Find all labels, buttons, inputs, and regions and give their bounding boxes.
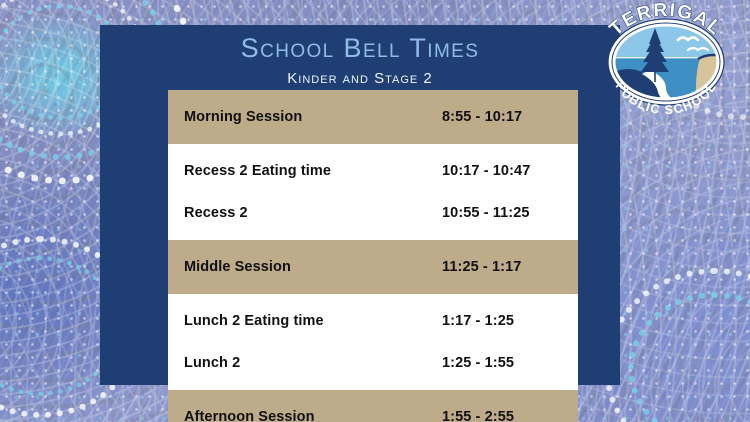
bell-times-panel: School Bell Times Kinder and Stage 2 Mor… (100, 25, 620, 385)
page-subtitle: Kinder and Stage 2 (100, 71, 620, 86)
group-bottom-padding (168, 285, 578, 294)
group-top-padding (168, 294, 578, 303)
schedule-group: Recess 2 Eating time10:17 - 10:47Recess … (168, 144, 578, 240)
schedule-group: Middle Session11:25 - 1:17 (168, 240, 578, 294)
session-label: Morning Session (184, 109, 442, 125)
bell-times-table: Morning Session8:55 - 10:17Recess 2 Eati… (168, 90, 578, 422)
session-label: Afternoon Session (184, 409, 442, 422)
schedule-group: Morning Session8:55 - 10:17 (168, 90, 578, 144)
group-top-padding (168, 144, 578, 153)
table-row: Lunch 21:25 - 1:55 (168, 345, 578, 381)
session-time: 11:25 - 1:17 (442, 259, 564, 275)
school-logo: TERRIGAL PUBLIC SCHOOL (592, 2, 740, 122)
table-row: Recess 2 Eating time10:17 - 10:47 (168, 153, 578, 189)
session-label: Recess 2 (184, 205, 442, 221)
table-row: Recess 210:55 - 11:25 (168, 195, 578, 231)
session-time: 1:25 - 1:55 (442, 355, 564, 371)
session-time: 1:17 - 1:25 (442, 313, 564, 329)
table-row: Morning Session8:55 - 10:17 (168, 99, 578, 135)
slide-canvas: School Bell Times Kinder and Stage 2 Mor… (0, 0, 750, 422)
session-time: 8:55 - 10:17 (442, 109, 564, 125)
group-bottom-padding (168, 381, 578, 390)
schedule-group: Lunch 2 Eating time1:17 - 1:25Lunch 21:2… (168, 294, 578, 390)
table-row: Middle Session11:25 - 1:17 (168, 249, 578, 285)
table-row: Afternoon Session1:55 - 2:55 (168, 399, 578, 422)
group-top-padding (168, 240, 578, 249)
session-time: 10:17 - 10:47 (442, 163, 564, 179)
session-label: Lunch 2 Eating time (184, 313, 442, 329)
group-top-padding (168, 90, 578, 99)
group-bottom-padding (168, 135, 578, 144)
session-time: 1:55 - 2:55 (442, 409, 564, 422)
session-label: Lunch 2 (184, 355, 442, 371)
schedule-group: Afternoon Session1:55 - 2:55 (168, 390, 578, 422)
session-time: 10:55 - 11:25 (442, 205, 564, 221)
session-label: Middle Session (184, 259, 442, 275)
page-title: School Bell Times (100, 35, 620, 62)
group-top-padding (168, 390, 578, 399)
group-bottom-padding (168, 231, 578, 240)
session-label: Recess 2 Eating time (184, 163, 442, 179)
table-row: Lunch 2 Eating time1:17 - 1:25 (168, 303, 578, 339)
